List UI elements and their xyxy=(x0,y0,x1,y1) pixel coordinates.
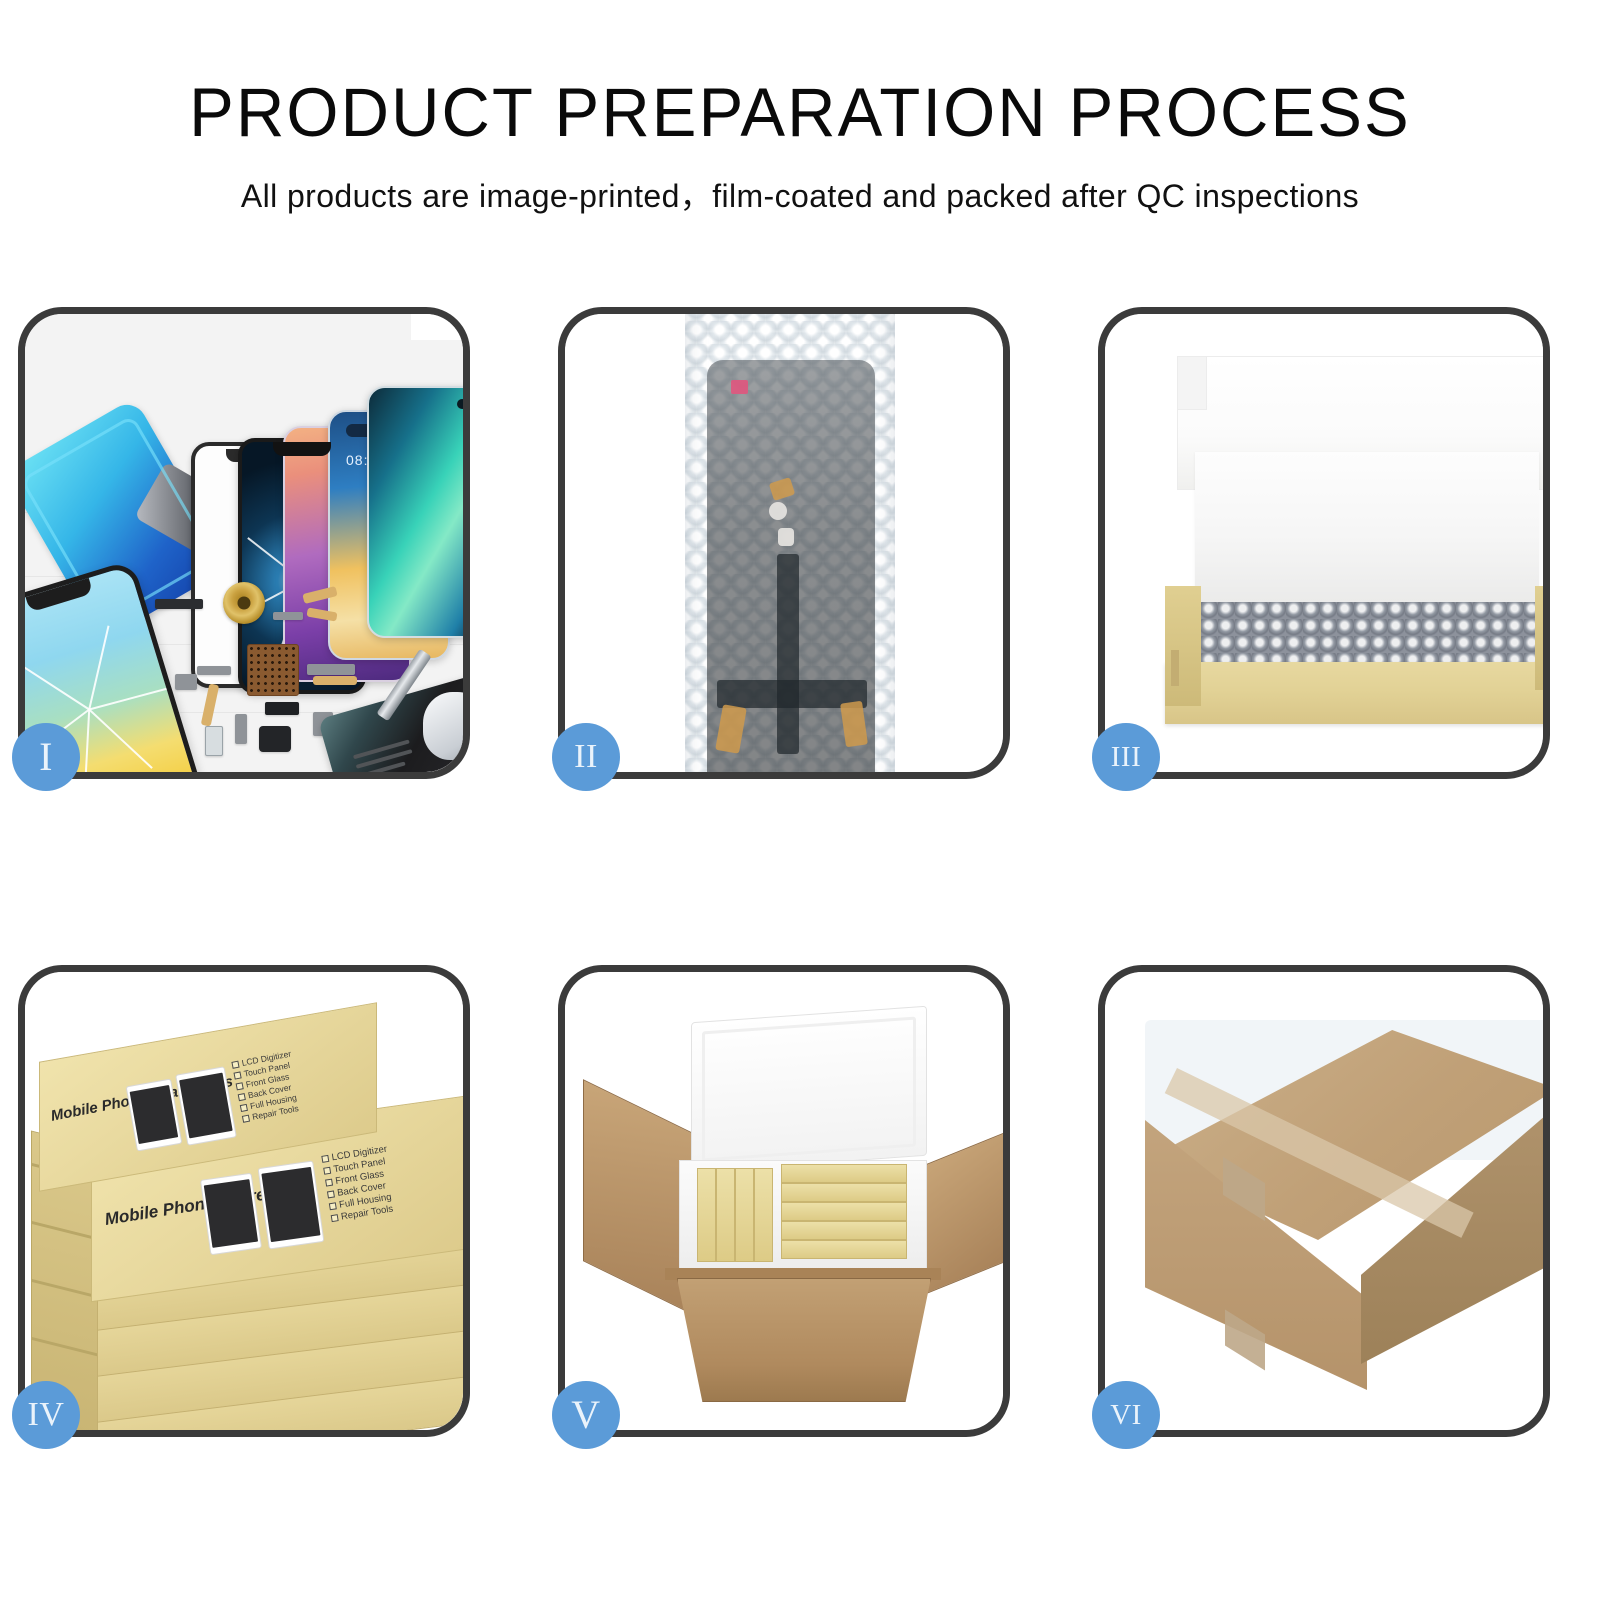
speaker-part-graphic xyxy=(155,599,203,609)
step-4-frame: Mobile Phone Spare Parts LCD Digitizer T… xyxy=(18,965,470,1437)
step-2-image xyxy=(565,314,1003,772)
carton-body xyxy=(677,1278,931,1402)
step-1-badge: I xyxy=(12,723,80,791)
retail-box-checklist: LCD Digitizer Touch Panel Front Glass Ba… xyxy=(231,1049,303,1125)
step-panel-3[interactable]: III xyxy=(1098,307,1550,779)
flex-cable-graphic xyxy=(313,676,357,685)
packed-box-item xyxy=(735,1168,754,1262)
connector-graphic xyxy=(778,528,794,546)
foam-sheet-graphic xyxy=(1195,452,1539,602)
packed-box-item xyxy=(754,1168,773,1262)
step-3-badge: III xyxy=(1092,723,1160,791)
camera-part-graphic xyxy=(259,726,291,752)
connector-graphic xyxy=(769,502,787,520)
step-2-badge: II xyxy=(552,723,620,791)
bubble-padding-graphic xyxy=(1201,602,1537,664)
kraft-tray-graphic xyxy=(1165,662,1543,724)
small-part-graphic xyxy=(197,666,231,675)
packed-box-item xyxy=(697,1168,716,1262)
sim-tray-graphic xyxy=(205,726,223,756)
step-6-badge: VI xyxy=(1092,1381,1160,1449)
wireless-coil-graphic xyxy=(223,582,265,624)
step-3-image xyxy=(1105,314,1543,772)
box-phone-thumbnail xyxy=(200,1173,262,1255)
packed-box-item xyxy=(781,1183,907,1202)
step-6-frame xyxy=(1098,965,1550,1437)
step-2-frame xyxy=(558,307,1010,779)
kraft-tray-left-wall xyxy=(1165,586,1201,706)
step-panel-5[interactable]: V xyxy=(558,965,1010,1437)
step-5-frame xyxy=(558,965,1010,1437)
box-phone-thumbnail xyxy=(258,1161,325,1250)
packed-box-item xyxy=(781,1221,907,1240)
foam-box-lid xyxy=(691,1006,927,1173)
step-1-frame: 08:08 xyxy=(18,307,470,779)
box-lid-flap-graphic xyxy=(1177,356,1207,410)
step-6-image xyxy=(1105,972,1543,1430)
kraft-tray-right-wall xyxy=(1535,586,1543,690)
small-part-graphic xyxy=(265,702,299,715)
step-5-badge: V xyxy=(552,1381,620,1449)
step-4-image: Mobile Phone Spare Parts LCD Digitizer T… xyxy=(25,972,463,1430)
small-part-graphic xyxy=(307,664,355,675)
connector-part-graphic xyxy=(273,612,303,620)
step-1-image: 08:08 xyxy=(25,314,463,772)
pink-qc-label-graphic xyxy=(731,380,748,394)
step-panel-1[interactable]: 08:08 xyxy=(18,307,470,779)
retail-box-checklist: LCD Digitizer Touch Panel Front Glass Ba… xyxy=(321,1144,397,1225)
packed-box-item xyxy=(781,1164,907,1183)
packed-box-item xyxy=(781,1240,907,1259)
process-steps-grid: 08:08 xyxy=(0,0,1600,1600)
step-panel-6[interactable]: VI xyxy=(1098,965,1550,1437)
step-panel-4[interactable]: Mobile Phone Spare Parts LCD Digitizer T… xyxy=(18,965,470,1437)
step-5-image xyxy=(565,972,1003,1430)
screws-graphic xyxy=(451,762,463,770)
ic-chip-graphic xyxy=(247,644,299,696)
step-3-frame xyxy=(1098,307,1550,779)
gloved-hand-graphic xyxy=(423,692,463,760)
small-part-graphic xyxy=(235,714,247,744)
teal-phone-graphic xyxy=(367,386,463,638)
packed-box-item xyxy=(781,1202,907,1221)
step-panel-2[interactable]: II xyxy=(558,307,1010,779)
small-part-graphic xyxy=(175,674,197,690)
packed-box-item xyxy=(716,1168,735,1262)
screen-flex-cable-graphic xyxy=(777,554,799,754)
step-4-badge: IV xyxy=(12,1381,80,1449)
